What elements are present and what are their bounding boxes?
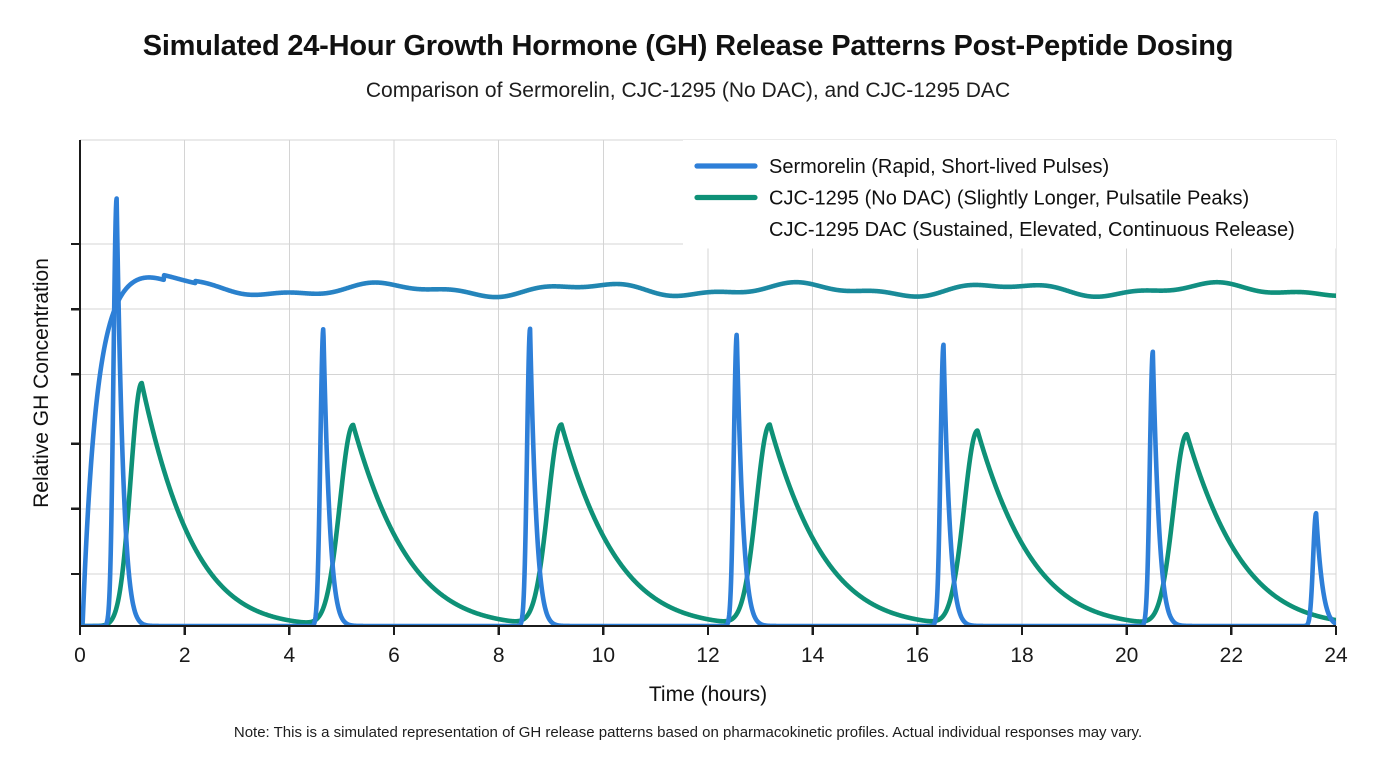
legend-label-0[interactable]: Sermorelin (Rapid, Short-lived Pulses) <box>769 156 1109 178</box>
x-tick-label: 8 <box>493 644 505 667</box>
x-tick-label: 24 <box>1324 644 1348 667</box>
chart-footnote: Note: This is a simulated representation… <box>0 724 1376 741</box>
x-tick-label: 22 <box>1220 644 1243 667</box>
legend-label-1[interactable]: CJC-1295 (No DAC) (Slightly Longer, Puls… <box>769 188 1249 210</box>
x-tick-label: 6 <box>388 644 400 667</box>
chart-legend[interactable]: Sermorelin (Rapid, Short-lived Pulses)CJ… <box>683 140 1336 249</box>
y-axis-label: Relative GH Concentration <box>30 258 53 508</box>
x-tick-label: 16 <box>906 644 929 667</box>
x-tick-label: 20 <box>1115 644 1138 667</box>
x-tick-label: 12 <box>696 644 719 667</box>
chart-x-tick-labels: 024681012141618202224 <box>74 644 1348 667</box>
x-tick-label: 10 <box>592 644 615 667</box>
chart-figure: Simulated 24-Hour Growth Hormone (GH) Re… <box>0 0 1376 768</box>
x-axis-label: Time (hours) <box>649 683 767 706</box>
x-tick-label: 14 <box>801 644 825 667</box>
x-tick-label: 2 <box>179 644 191 667</box>
x-tick-label: 0 <box>74 644 86 667</box>
chart-plot-area: 024681012141618202224 Time (hours) Relat… <box>0 0 1376 768</box>
legend-label-2[interactable]: CJC-1295 DAC (Sustained, Elevated, Conti… <box>769 219 1295 241</box>
x-tick-label: 18 <box>1010 644 1033 667</box>
x-tick-label: 4 <box>283 644 295 667</box>
